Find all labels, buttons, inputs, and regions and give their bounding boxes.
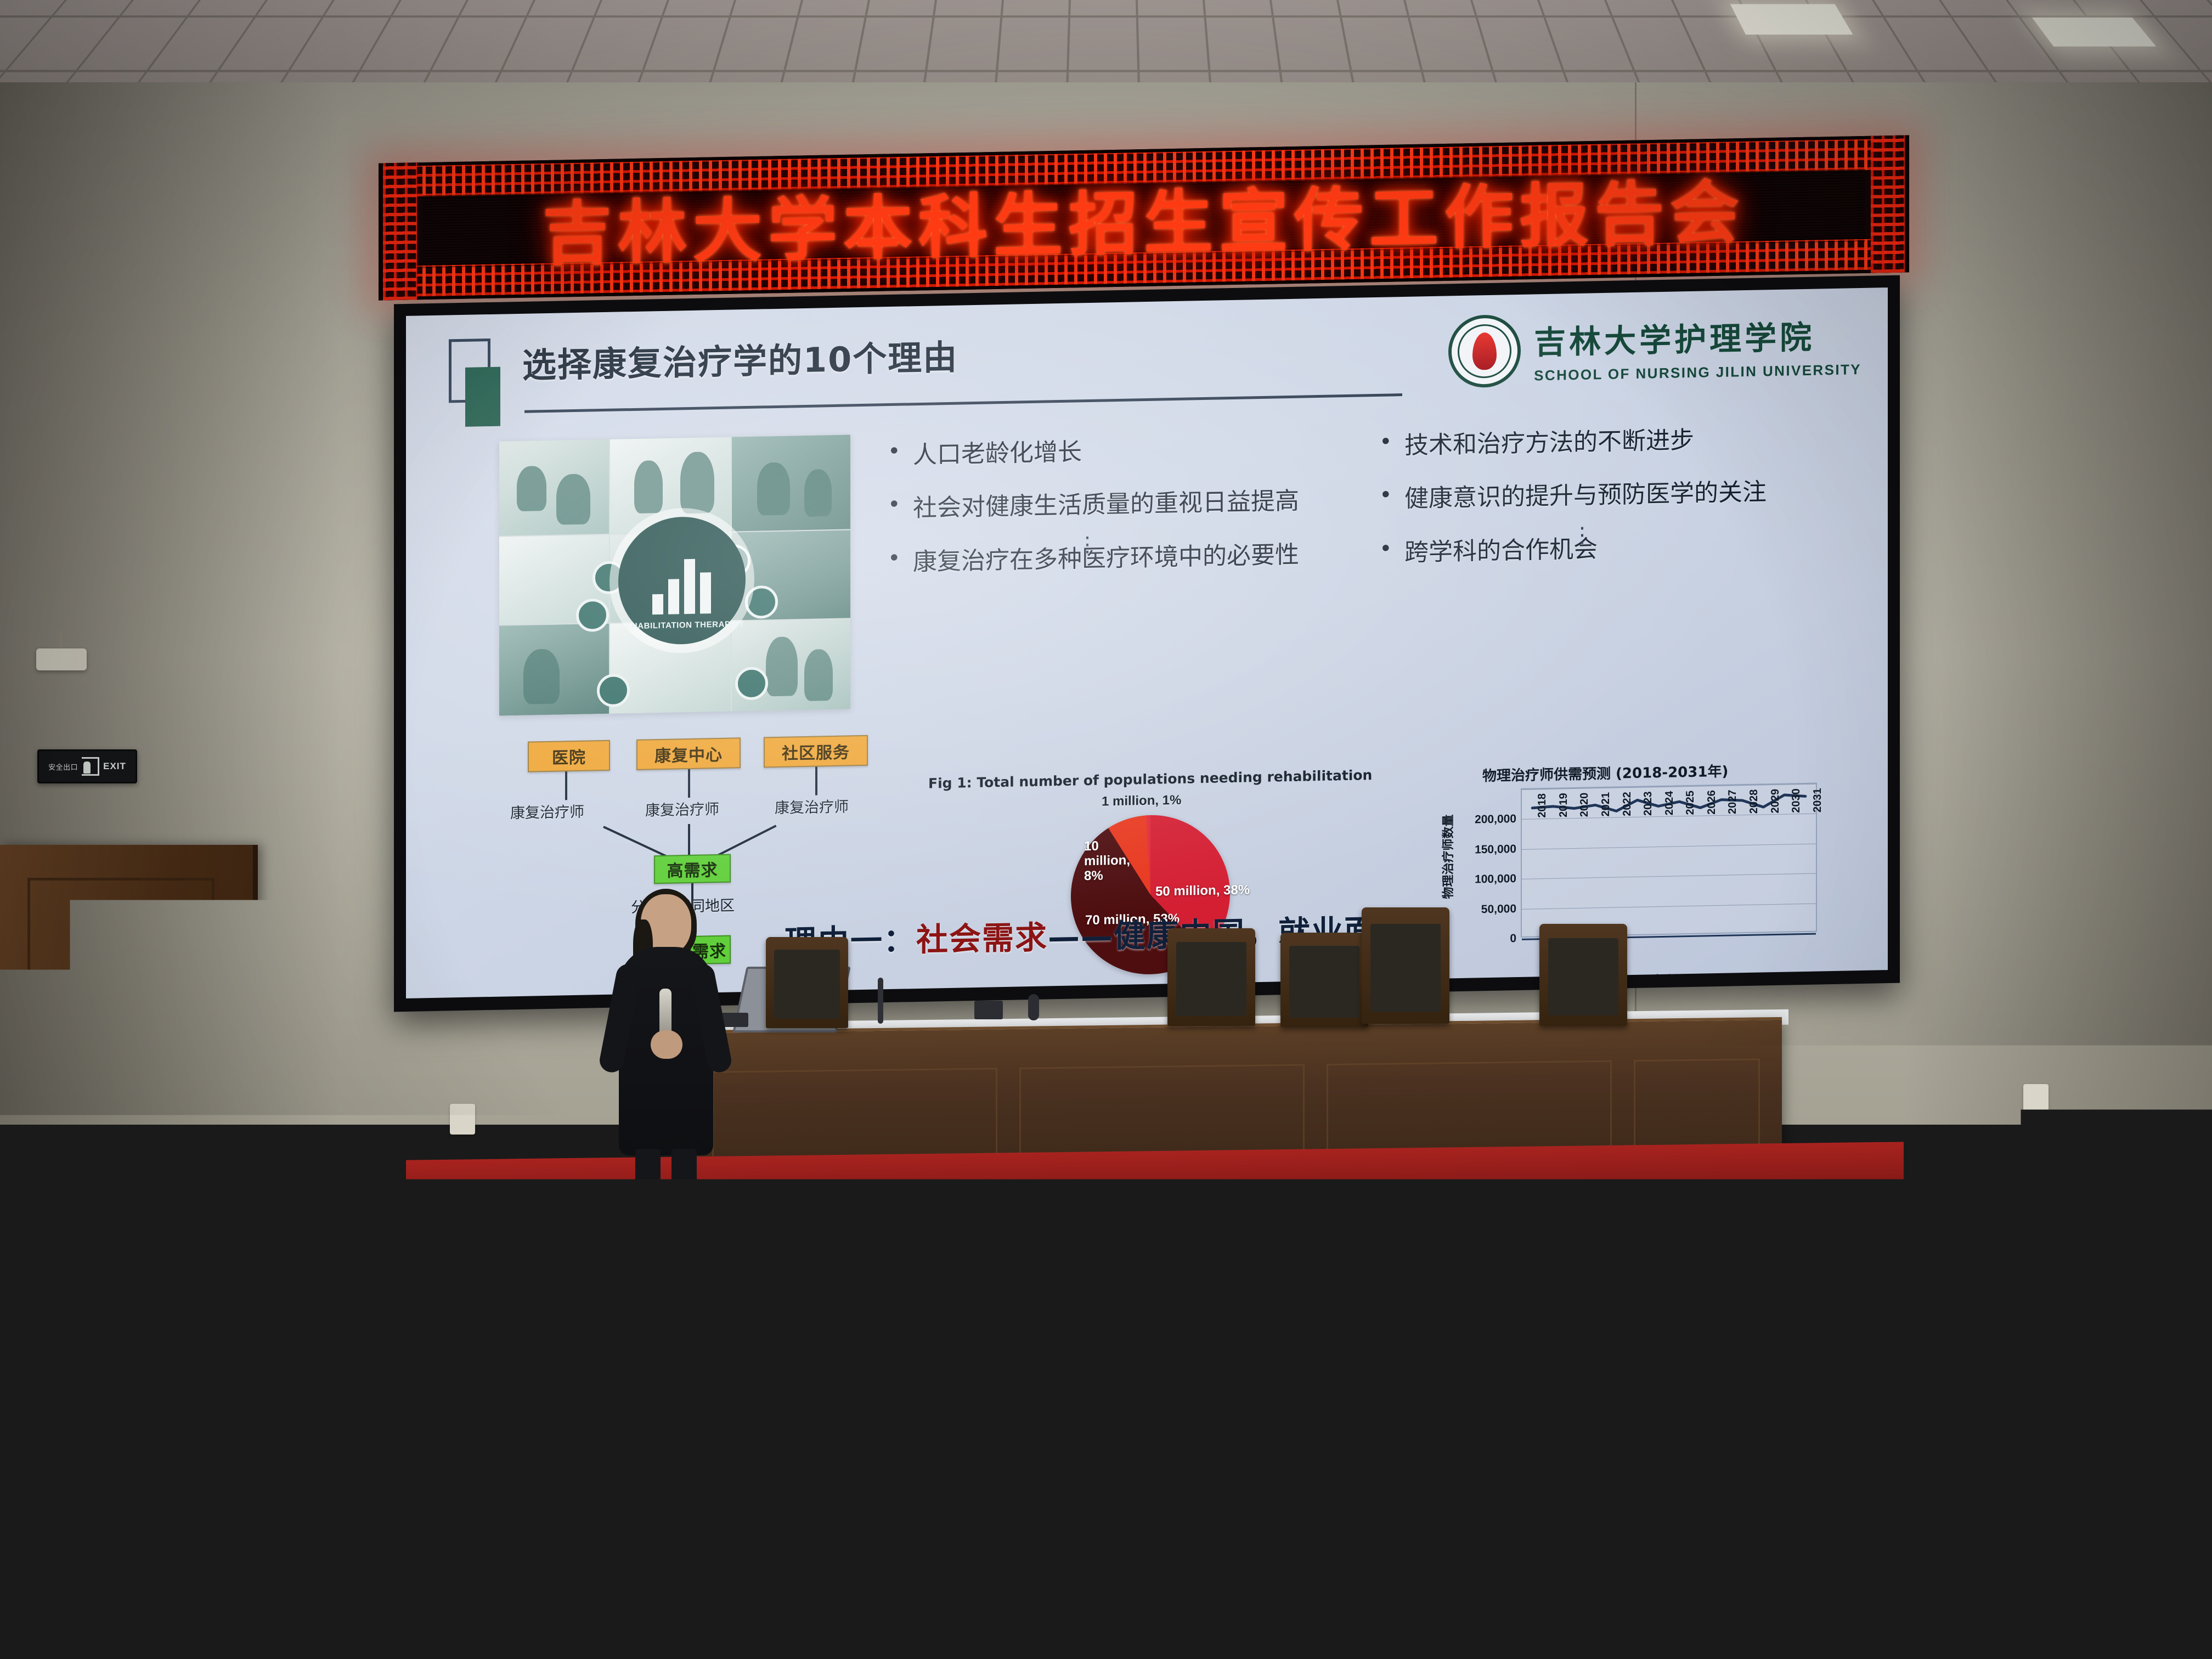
audience-member-head — [1905, 1177, 1946, 1224]
audience-member-head — [267, 1226, 312, 1279]
audience-member-head — [133, 1511, 206, 1599]
list-item: 技术和治疗方法的不断进步 — [1376, 418, 1837, 466]
line-chart-x-axis-label: 年份 — [1654, 969, 1679, 989]
audience-member-head — [585, 1177, 625, 1224]
audience-member-head — [2070, 1425, 2135, 1502]
x-axis-tick: 2026 — [1706, 790, 1718, 815]
stage-chair[interactable] — [1167, 928, 1255, 1026]
audience-member-head — [1063, 1350, 1120, 1417]
audience-member-head — [1330, 1177, 1370, 1224]
vertical-ellipsis-left: ⋮ — [1076, 540, 1098, 551]
presenter — [605, 894, 725, 1201]
desk-panel — [1634, 1058, 1760, 1153]
slide-title: 选择康复治疗学的10个理由 — [522, 330, 958, 387]
audience-member-head — [2068, 1284, 2119, 1343]
audience-member-head — [129, 1284, 179, 1343]
audience-member-head — [1776, 1511, 1850, 1599]
audience-member-head — [631, 1425, 696, 1502]
flow-node-label: 康复中心 — [654, 741, 723, 766]
flame-icon — [1472, 332, 1497, 370]
lecture-hall-photo: 安全出口 EXIT 吉林大学本科生招生宣传工作报告会 选择康复治疗学的10个理由… — [0, 0, 2212, 1659]
stage-chair[interactable] — [766, 937, 848, 1028]
audience-member-head — [502, 1425, 567, 1502]
line-chart-y-axis-label: 物理治疗师数量 — [1438, 802, 1456, 912]
exit-sign-label-en: EXIT — [103, 761, 126, 772]
audience-member-head — [1160, 1177, 1201, 1224]
microphone-stand — [878, 978, 883, 1024]
audience-member-head — [1564, 1284, 1614, 1343]
audience-member-head — [1084, 1226, 1128, 1279]
audience-member-head — [1325, 1511, 1398, 1599]
audience-member-head — [28, 1284, 78, 1343]
motion-sensor — [36, 648, 87, 670]
audience-member-head — [1630, 1226, 1675, 1279]
audience-member-head — [814, 1226, 859, 1279]
audience-member-head — [917, 1177, 957, 1224]
wall-shadow-right — [1905, 82, 2212, 1125]
audience-member-head — [1541, 1226, 1585, 1279]
audience-member-head — [1804, 1425, 1869, 1502]
x-axis-tick: 2024 — [1663, 791, 1676, 815]
flow-edge — [603, 826, 669, 858]
led-fret-border-left — [383, 162, 417, 300]
audience-member-head — [942, 1350, 999, 1417]
audience-member-head — [742, 1284, 792, 1343]
audience-member-head — [1286, 1425, 1351, 1502]
audience-member-head — [1824, 1177, 1865, 1224]
audience-member-head — [1720, 1226, 1765, 1279]
legend-item: Disabled people — [952, 992, 1070, 998]
x-axis-tick: 2022 — [1621, 792, 1634, 816]
audience-member-head — [486, 1350, 543, 1417]
x-axis-tick: 2020 — [1578, 792, 1591, 817]
audience-member-head — [1765, 1284, 1816, 1343]
audience-member-head — [2073, 1511, 2146, 1599]
audience-member-head — [1355, 1284, 1405, 1343]
audience-member-head — [1674, 1425, 1739, 1502]
legend-swatch — [1100, 992, 1114, 998]
paper-cup — [53, 1193, 72, 1217]
flow-node-label: 医院 — [552, 744, 586, 769]
stage-chair[interactable] — [1280, 933, 1368, 1027]
pie-chart-caption: Fig 1: Total number of populations needi… — [928, 767, 1372, 792]
audience-member-head — [1254, 1284, 1304, 1343]
flow-edge-label: 康复治疗师 — [775, 794, 849, 817]
audience-member-head — [1249, 1177, 1289, 1224]
ceiling-light — [1730, 4, 1853, 34]
x-axis-tick: 2027 — [1726, 789, 1739, 814]
line-chart-title: 物理治疗师供需预测 (2018-2031年) — [1482, 760, 1728, 786]
line-chart: 物理治疗师供需预测 (2018-2031年) 物理治疗师数量 200,000 1… — [1435, 758, 1852, 985]
audience-member-head — [179, 1177, 219, 1224]
y-axis-tick: 150,000 — [1475, 843, 1516, 856]
audience-member-head — [22, 1350, 79, 1417]
audience-member-head — [540, 1284, 590, 1343]
flow-node-hospital: 医院 — [528, 740, 610, 772]
bullet-list-right: 技术和治疗方法的不断进步 健康意识的提升与预防医学的关注 跨学科的合作机会 — [1376, 418, 1837, 587]
audience-member-head — [2097, 1350, 2154, 1417]
audience-member-head — [1406, 1350, 1463, 1417]
audience-member-head — [447, 1226, 492, 1279]
audience-member-head — [1052, 1284, 1102, 1343]
wall-socket — [450, 1104, 475, 1135]
audience-member-head — [80, 1226, 125, 1279]
audience-member-head — [1520, 1350, 1577, 1417]
audience-member-head — [716, 1226, 761, 1279]
audience-member-head — [627, 1226, 672, 1279]
y-axis-tick: 50,000 — [1481, 902, 1516, 916]
audience-member-head — [1664, 1284, 1715, 1343]
audience-member-head — [357, 1226, 402, 1279]
audience-member-head — [2087, 1226, 2132, 1279]
list-item: 跨学科的合作机会 — [1376, 524, 1837, 572]
presentation-slide: 选择康复治疗学的10个理由 吉林大学护理学院 SCHOOL OF NURSING… — [406, 287, 1888, 998]
audience-member-head — [236, 1425, 301, 1502]
x-axis-tick: 2021 — [1600, 792, 1612, 817]
list-item: 社会对健康生活质量的重视日益提高 — [884, 481, 1340, 529]
audience-member-head — [371, 1350, 428, 1417]
audience-member-head — [1997, 1226, 2042, 1279]
audience-member-head — [504, 1177, 544, 1224]
presenter-hands — [651, 1030, 682, 1059]
audience-member-head — [600, 1350, 657, 1417]
audience-member-head — [641, 1284, 691, 1343]
exit-sign-label-cn: 安全出口 — [48, 761, 78, 772]
flow-edge — [815, 767, 817, 795]
audience-member-head — [998, 1177, 1039, 1224]
audience-member-head — [260, 1177, 301, 1224]
audience-member-head — [1573, 1177, 1614, 1224]
x-axis-tick: 2023 — [1642, 791, 1655, 816]
flow-edge — [565, 771, 567, 800]
rehabilitation-collage-image: REHABILITATION THERAPIST — [499, 435, 850, 715]
audience-member-head — [761, 1425, 826, 1502]
flow-edge — [688, 824, 690, 857]
audience-member-head — [1983, 1350, 2040, 1417]
audience-member-head — [1415, 1425, 1480, 1502]
audience-member-head — [136, 1350, 193, 1417]
audience-member-head — [1451, 1226, 1496, 1279]
flow-node-community-service: 社区服务 — [764, 735, 868, 768]
exit-sign: 安全出口 EXIT — [37, 749, 137, 783]
list-item: 人口老龄化增长 — [884, 427, 1340, 475]
audience-member-head — [1869, 1350, 1926, 1417]
vertical-ellipsis-right: ⋮ — [1571, 530, 1593, 541]
running-person-icon — [82, 757, 99, 776]
audience-member-head — [338, 1284, 388, 1343]
audience-member-head — [904, 1226, 949, 1279]
audience-member-head — [1455, 1284, 1506, 1343]
desk-panel — [1327, 1060, 1612, 1157]
pie-slice-label-accident: 10 million, 8% — [1084, 838, 1144, 884]
audience-member-head — [1156, 1425, 1221, 1502]
audience-member-head — [1810, 1226, 1855, 1279]
audience-member-head — [1634, 1350, 1691, 1417]
y-axis-tick: 100,000 — [1475, 872, 1516, 886]
audience-member-head — [237, 1284, 287, 1343]
audience-member-head — [1743, 1177, 1784, 1224]
bar-chart-icon — [652, 556, 711, 614]
audience-member-head — [439, 1284, 489, 1343]
stage-chair[interactable] — [1539, 924, 1627, 1026]
wall-socket — [2023, 1084, 2049, 1115]
audience-member-head — [177, 1226, 222, 1279]
y-axis-tick: 200,000 — [1475, 812, 1516, 826]
audience-member-head — [91, 1177, 131, 1224]
desk-item — [974, 1001, 1003, 1019]
audience-member-head — [1628, 1511, 1702, 1599]
audience-member-head — [714, 1350, 771, 1417]
x-axis-tick: 2030 — [1790, 788, 1803, 813]
audience-member-head — [673, 1177, 714, 1224]
desk-panel — [1019, 1064, 1305, 1160]
flow-node-rehab-center: 康复中心 — [636, 737, 741, 770]
audience-member-head — [1177, 1511, 1250, 1599]
x-axis-tick: 2018 — [1536, 793, 1549, 818]
audience-member-head — [732, 1511, 806, 1599]
flow-node-label: 高需求 — [667, 856, 718, 882]
legend-label: Disabled people — [974, 992, 1070, 998]
pie-slice-label-chronic: 50 million, 38% — [1155, 882, 1250, 899]
title-square-fill-icon — [465, 367, 500, 427]
rehabilitation-therapist-badge: REHABILITATION THERAPIST — [618, 516, 746, 645]
logo-text-cn: 吉林大学护理学院 — [1534, 310, 1861, 362]
audience-member-head — [890, 1425, 955, 1502]
desk-item — [1028, 994, 1039, 1020]
audience-member-head — [951, 1284, 1001, 1343]
audience-member-head — [1545, 1425, 1610, 1502]
audience-member-head — [106, 1425, 171, 1502]
audience-member-head — [1925, 1511, 1998, 1599]
flow-edge-label: 康复治疗师 — [510, 800, 584, 823]
flow-edge-label: 康复治疗师 — [645, 797, 719, 820]
audience-member-head — [1480, 1511, 1554, 1599]
audience-member-head — [1029, 1511, 1102, 1599]
audience-member-head — [994, 1226, 1039, 1279]
desk-panel — [712, 1068, 997, 1164]
flow-node-high-demand: 高需求 — [654, 854, 731, 884]
door-knob[interactable] — [220, 1067, 234, 1081]
x-axis-tick: 2029 — [1769, 789, 1782, 814]
y-axis-tick: 0 — [1510, 932, 1516, 945]
audience-member-head — [1492, 1177, 1533, 1224]
audience-member-head — [1866, 1284, 1917, 1343]
x-axis-tick: 2025 — [1684, 791, 1697, 815]
logo-emblem-icon — [1448, 314, 1521, 388]
audience-member-head — [584, 1511, 658, 1599]
audience-member-head — [1900, 1226, 1945, 1279]
audience-member-head — [436, 1511, 510, 1599]
x-axis-tick: 2028 — [1748, 789, 1760, 814]
audience-member-head — [828, 1350, 885, 1417]
title-divider — [524, 393, 1402, 413]
line-chart-plot-area: 200,000 150,000 100,000 50,000 0 2018201… — [1521, 783, 1817, 938]
audience-member-head — [850, 1284, 900, 1343]
audience-member-head — [281, 1511, 354, 1599]
flow-edge — [688, 769, 690, 798]
footer-accent: 社会需求 — [916, 918, 1048, 958]
audience-member-head — [881, 1511, 954, 1599]
audience-member-head — [422, 1177, 463, 1224]
x-axis-tick: 2031 — [1812, 788, 1824, 812]
audience-member-head — [1987, 1177, 2027, 1224]
led-fret-border-right — [1871, 136, 1905, 273]
logo-text-en: SCHOOL OF NURSING JILIN UNIVERSITY — [1534, 360, 1861, 383]
audience-member-head — [1291, 1350, 1348, 1417]
list-item: 康复治疗在多种医疗环境中的必要性 — [884, 534, 1340, 582]
audience-member-head — [1967, 1284, 2018, 1343]
led-banner-text: 吉林大学本科生招生宣传工作报告会 — [422, 168, 1865, 268]
flow-node-label: 社区服务 — [782, 738, 850, 764]
audience-member-head — [1020, 1425, 1085, 1502]
led-banner: 吉林大学本科生招生宣传工作报告会 — [379, 135, 1909, 300]
audience-member-head — [1079, 1177, 1120, 1224]
door-panel — [27, 878, 215, 1042]
audience-member-head — [754, 1177, 795, 1224]
stage-chair[interactable] — [1362, 907, 1449, 1024]
legend-swatch — [952, 995, 967, 998]
list-item: 健康意识的提升与预防医学的关注 — [1376, 471, 1837, 519]
audience-member-head — [1755, 1350, 1812, 1417]
x-axis-tick: 2019 — [1558, 793, 1570, 817]
audience-member-head — [1177, 1350, 1234, 1417]
bullet-list-left: 人口老龄化增长 社会对健康生活质量的重视日益提高 康复治疗在多种医疗环境中的必要… — [884, 427, 1340, 596]
audience-member-head — [1933, 1425, 1998, 1502]
audience-member-head — [1361, 1226, 1406, 1279]
pie-slice-label-disabled: 1 million, 1% — [1102, 793, 1181, 810]
audience-member-head — [1153, 1284, 1203, 1343]
audience-member-head — [257, 1350, 314, 1417]
audience-member-head — [373, 1425, 437, 1502]
audience-member-head — [1655, 1177, 1695, 1224]
school-logo: 吉林大学护理学院 SCHOOL OF NURSING JILIN UNIVERS… — [1448, 308, 1861, 388]
audience-member-head — [1173, 1226, 1218, 1279]
